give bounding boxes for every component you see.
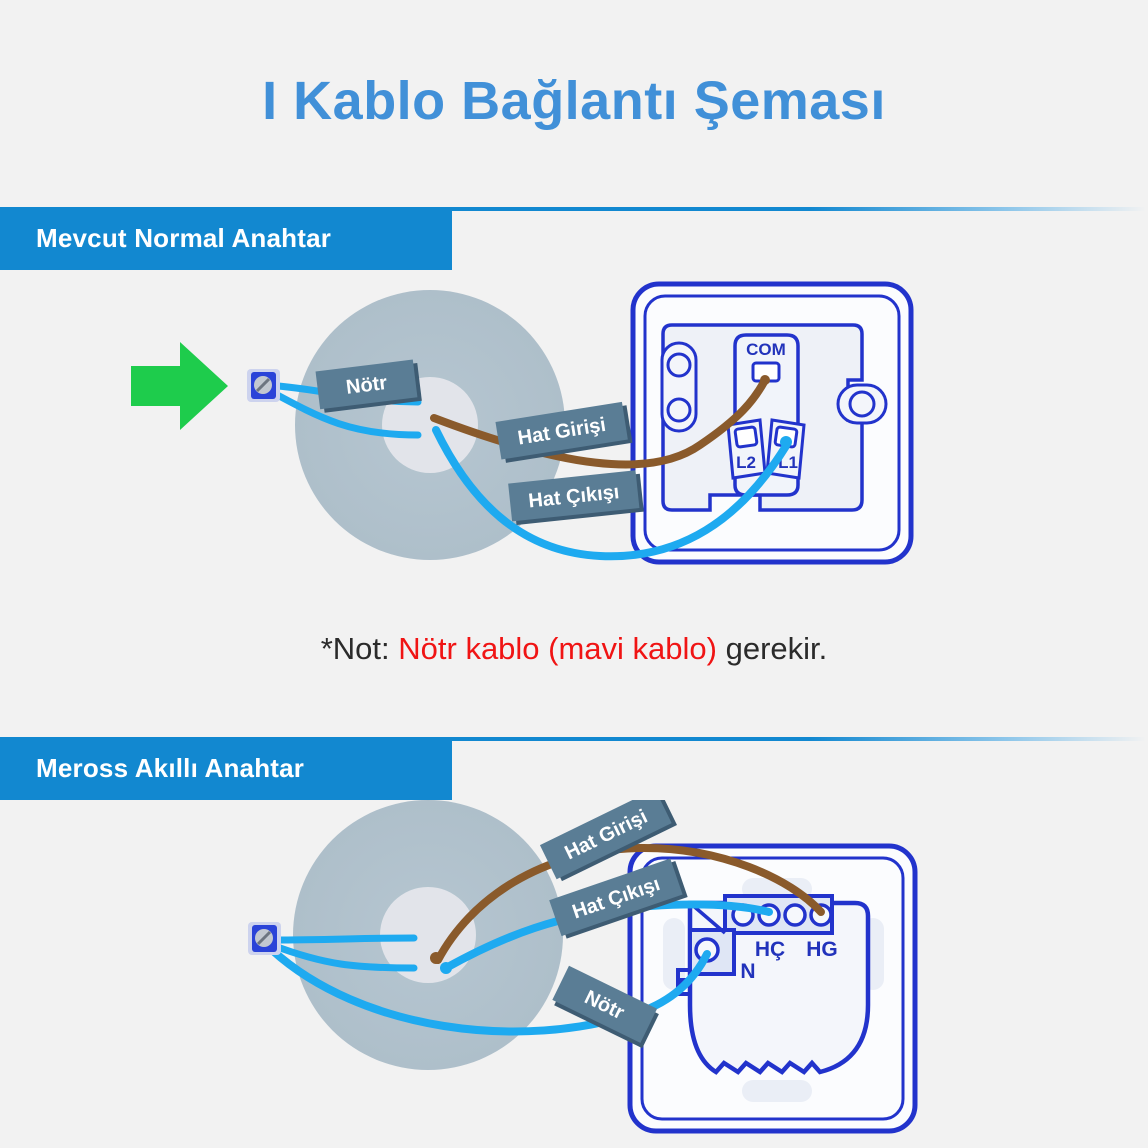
note-highlight: Nötr kablo (mavi kablo) — [398, 631, 717, 666]
wire-end-brown-box — [430, 952, 442, 964]
wire-end-blue-box — [440, 962, 452, 974]
terminal-com-label: COM — [746, 340, 786, 359]
terminal-connector-block — [247, 369, 280, 402]
terminal-hole-3 — [785, 905, 805, 925]
diagram-smart-switch: HÇ HG N — [0, 800, 1148, 1148]
section-header-existing-switch: Mevcut Normal Anahtar — [0, 207, 452, 270]
terminal-n-label: N — [740, 960, 755, 983]
wiring-diagram-page: I Kablo Bağlantı Şeması Mevcut Normal An… — [0, 0, 1148, 1148]
green-arrow-icon — [131, 342, 228, 430]
wire-end-com — [760, 375, 770, 385]
section-divider-bottom — [446, 737, 1146, 741]
ghost-button-bottom — [742, 1080, 812, 1102]
terminal-hc-label: HÇ — [755, 938, 785, 961]
note-suffix: gerekir. — [717, 631, 827, 666]
wire-neutral-a — [272, 938, 414, 940]
diagram-existing-switch: COM L2 L1 — [0, 270, 1148, 620]
section-header-smart-switch: Meross Akıllı Anahtar — [0, 737, 452, 800]
switch-faceplate: COM L2 L1 — [633, 284, 911, 562]
terminal-l2-label: L2 — [736, 453, 756, 472]
note-prefix: *Not: — [321, 631, 399, 666]
mounting-slot-right — [838, 385, 886, 423]
section-header-label: Mevcut Normal Anahtar — [36, 223, 331, 254]
note-text: *Not: Nötr kablo (mavi kablo) gerekir. — [0, 631, 1148, 667]
terminal-connector-block — [248, 922, 281, 955]
terminal-hg-label: HG — [806, 938, 838, 961]
wire-end-l1 — [780, 436, 792, 448]
section-header-label: Meross Akıllı Anahtar — [36, 753, 304, 784]
terminal-l2: L2 — [728, 420, 765, 478]
mounting-slot-left — [662, 343, 696, 431]
section-divider-top — [446, 207, 1146, 211]
page-title: I Kablo Bağlantı Şeması — [0, 70, 1148, 132]
